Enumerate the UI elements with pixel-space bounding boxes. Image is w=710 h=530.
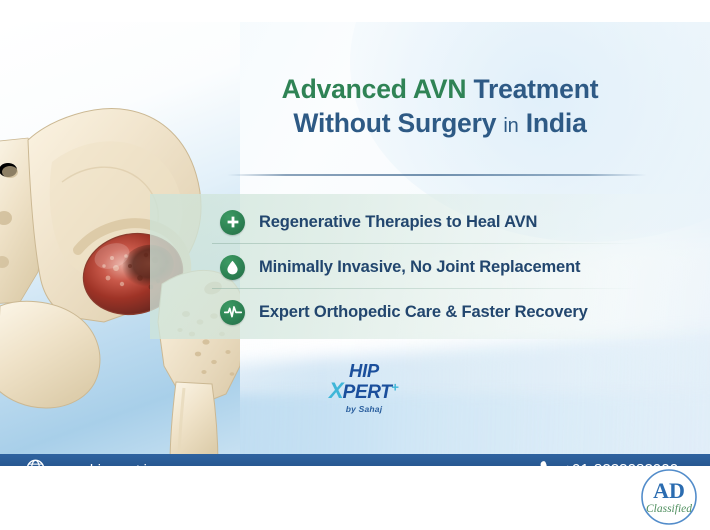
hipxpert-logo[interactable]: HIP XPERT+ by Sahaj [318, 362, 410, 418]
headline-line2-light: in [503, 115, 518, 137]
logo-pert-text: PERT [343, 382, 392, 403]
watermark-ad-text: AD [653, 478, 685, 503]
headline: Advanced AVN Treatment Without Surgery i… [205, 74, 675, 138]
heartbeat-pulse-icon [220, 300, 245, 325]
logo-tagline: by Sahaj [318, 404, 410, 414]
headline-line2-bold-1: Without Surgery [293, 108, 496, 138]
contact-footer-bar: www.hipxpert.in +91-8223082900 [0, 454, 710, 466]
headline-blue-text: Treatment [473, 74, 598, 104]
ad-canvas: Advanced AVN Treatment Without Surgery i… [0, 0, 710, 530]
logo-x-letter: X [329, 378, 343, 403]
website-url: www.hipxpert.in [56, 463, 155, 466]
website-contact[interactable]: www.hipxpert.in [26, 459, 155, 466]
benefit-item: Minimally Invasive, No Joint Replacement [220, 247, 580, 287]
ad-classified-watermark[interactable]: AD Classified [637, 466, 701, 528]
advertisement-banner[interactable]: Advanced AVN Treatment Without Surgery i… [0, 22, 710, 466]
benefit-separator [212, 243, 642, 244]
water-drop-icon [220, 255, 245, 280]
headline-line-2: Without Surgery in India [205, 108, 675, 138]
benefit-separator [212, 288, 642, 289]
benefit-item: Regenerative Therapies to Heal AVN [220, 202, 537, 242]
headline-green-text: Advanced AVN [282, 74, 467, 104]
globe-icon [26, 459, 45, 466]
phone-icon [540, 460, 556, 466]
benefit-item: Expert Orthopedic Care & Faster Recovery [220, 292, 588, 332]
watermark-classified-text: Classified [646, 503, 692, 515]
headline-line-1: Advanced AVN Treatment [205, 74, 675, 104]
benefits-panel: Regenerative Therapies to Heal AVN Minim… [150, 194, 710, 339]
headline-line2-bold-2: India [526, 108, 587, 138]
logo-xpert-row: XPERT+ [318, 380, 410, 402]
benefit-label: Expert Orthopedic Care & Faster Recovery [259, 303, 588, 322]
benefit-label: Minimally Invasive, No Joint Replacement [259, 258, 580, 277]
benefit-label: Regenerative Therapies to Heal AVN [259, 213, 537, 232]
headline-divider [227, 174, 647, 176]
logo-plus-symbol: + [391, 379, 399, 394]
medical-plus-icon [220, 210, 245, 235]
